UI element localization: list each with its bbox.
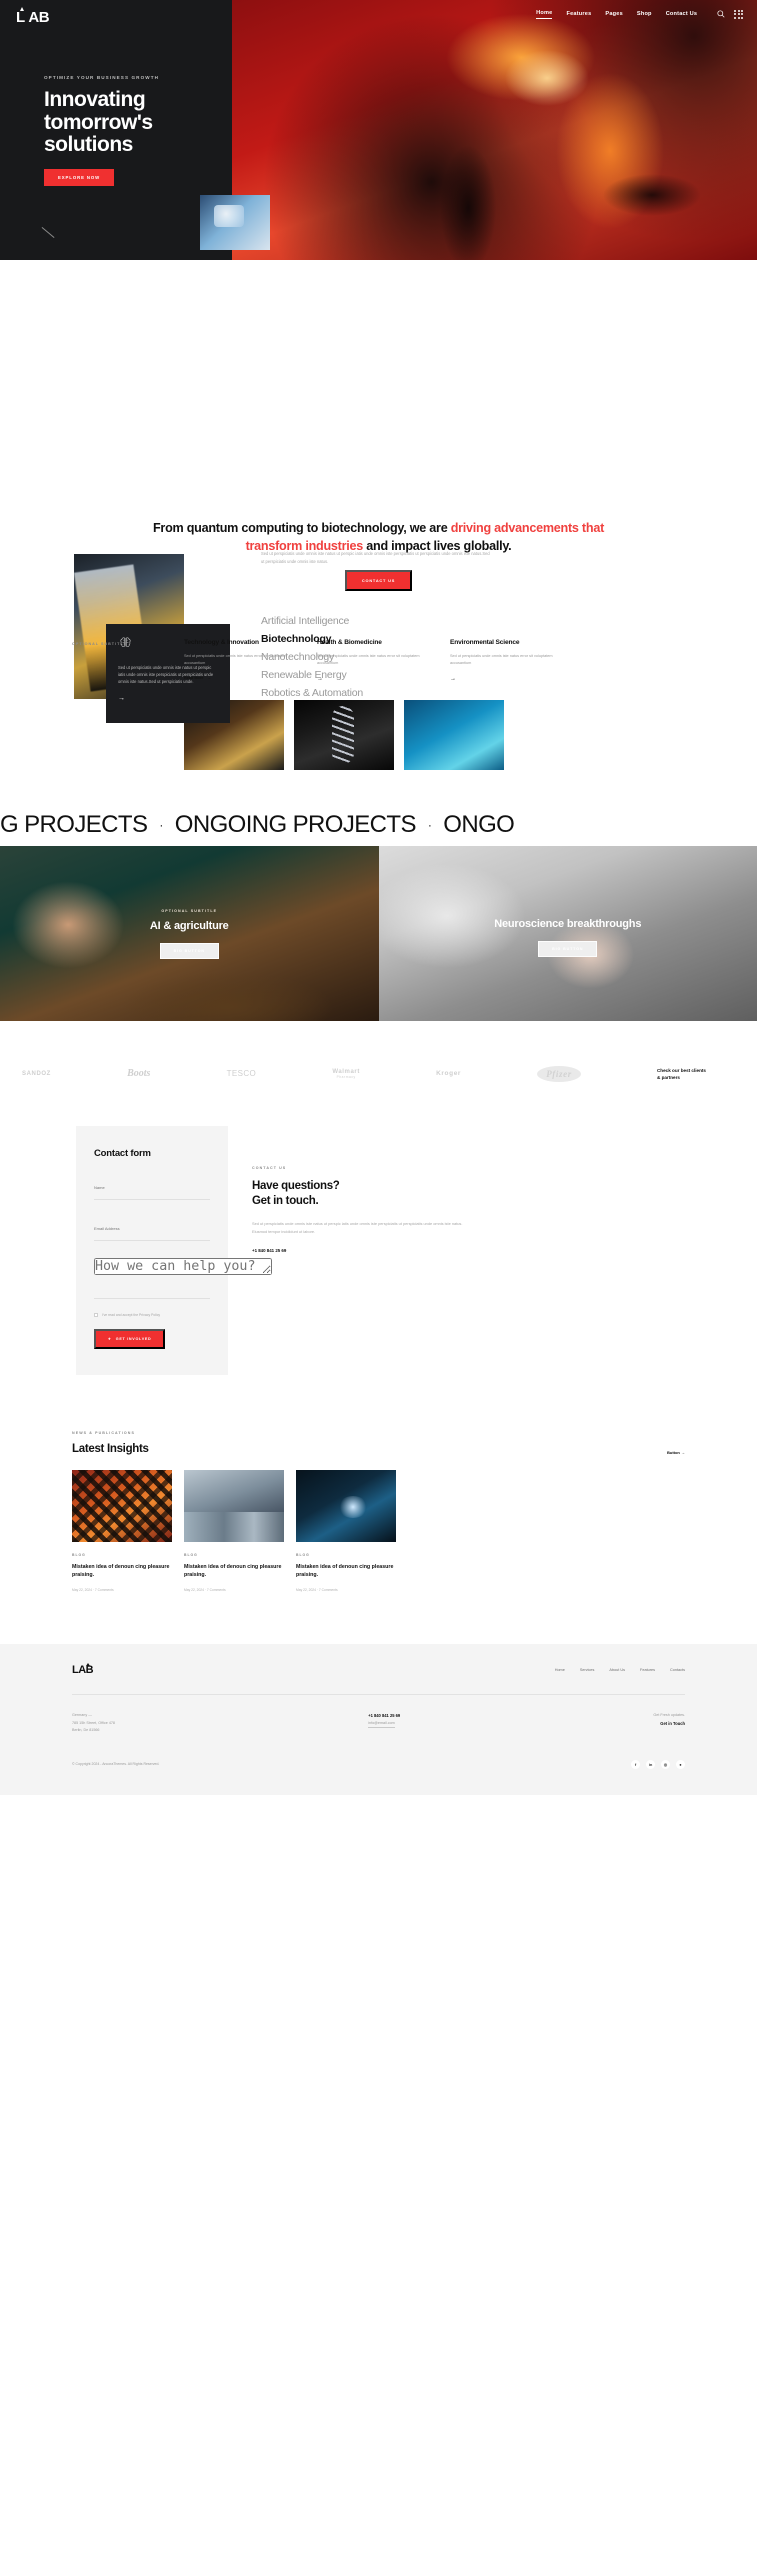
email-input[interactable] [94,1226,210,1231]
feature-text: Sed ut perspiciatis unde omnis iste natu… [184,653,289,667]
project-subtitle: OPTIONAL SUBTITLE [150,909,229,913]
site-footer: LAB Home Services About Us Features Cont… [0,1644,757,1795]
projects-section: OPTIONAL SUBTITLE AI & agriculture BIG B… [0,846,757,1021]
project-card-neuroscience[interactable]: Neuroscience breakthroughs BIG BUTTON [379,846,757,1021]
topic-item-artificial-intelligence[interactable]: Artificial Intelligence [261,612,491,630]
feature-column-environmental[interactable]: Environmental Science Sed ut perspiciati… [450,639,555,683]
footer-updates: Get Fresh updates. Get in Touch [653,1712,685,1734]
client-logo-pfizer: Pfizer [537,1066,581,1082]
privacy-checkbox[interactable] [94,1313,98,1317]
feature-image-dna [294,700,394,770]
blog-meta: May 22, 2024 · 7 Comments [184,1588,284,1592]
contact-form[interactable]: Contact form I've read and accept the Pr… [76,1126,228,1375]
hero-eyebrow: OPTIMIZE YOUR BUSINESS GROWTH [44,75,159,80]
blog-title: Latest Insights [72,1443,149,1455]
clients-section: SANDOZ Boots TESCO WalmartPharmacy Kroge… [0,1021,757,1126]
feature-column-health[interactable]: Health & Biomedicine Sed ut perspiciatis… [317,639,422,683]
blog-card[interactable]: BLOG Mistaken idea of denoun cing pleasu… [296,1470,396,1592]
features-subtitle: OPTIONAL SUBTITLE [72,639,184,683]
blog-image [72,1470,172,1542]
blog-post-title[interactable]: Mistaken idea of denoun cing pleasure pr… [184,1564,284,1580]
blog-card[interactable]: BLOG Mistaken idea of denoun cing pleasu… [184,1470,284,1592]
feature-read-more-link[interactable]: Read More→ [184,676,289,680]
send-icon: ✈ [108,1337,112,1341]
blog-post-title[interactable]: Mistaken idea of denoun cing pleasure pr… [72,1564,172,1580]
privacy-label: I've read and accept the Privacy Policy [102,1313,160,1317]
client-logo-kroger: Kroger [436,1070,461,1077]
blog-category: BLOG [72,1553,172,1557]
linkedin-icon[interactable]: in [646,1760,655,1769]
landing-page: L.AB Home Features Pages Shop Contact Us… [0,0,757,1795]
marquee-separator: · [147,818,174,832]
feature-text: Sed ut perspiciatis unde omnis iste natu… [450,653,555,667]
contact-form-title: Contact form [94,1148,210,1159]
marquee-text-trail: ONGO [443,811,514,839]
client-logo-tesco: TESCO [227,1069,257,1078]
hero-section: L.AB Home Features Pages Shop Contact Us… [0,0,757,260]
feature-title: Environmental Science [450,639,555,646]
marquee-separator: · [416,818,443,832]
footer-get-in-touch-link[interactable]: Get in Touch [653,1720,685,1728]
ongoing-projects-marquee: G PROJECTS · ONGOING PROJECTS · ONGO [0,804,757,846]
footer-email[interactable]: info@email.com [368,1720,395,1728]
blog-button[interactable]: Button → [667,1450,685,1455]
footer-social-links[interactable]: f in ◎ ● [631,1760,685,1769]
client-logo-sandoz: SANDOZ [22,1071,51,1077]
contact-text: Sed ut perspiciatis unde omnis iste natu… [252,1220,472,1234]
blog-section: NEWS & PUBLICATIONS Latest Insights Butt… [0,1431,757,1592]
nav-item-home[interactable]: Home [536,10,552,19]
marquee-text-partial: G PROJECTS [0,811,147,839]
clients-note: Check our best clients& partners [657,1067,735,1081]
nav-item-pages[interactable]: Pages [605,11,622,17]
name-input[interactable] [94,1185,210,1190]
project-card-ai-agriculture[interactable]: OPTIONAL SUBTITLE AI & agriculture BIG B… [0,846,379,1021]
nav-item-shop[interactable]: Shop [637,11,652,17]
hero-copy: OPTIMIZE YOUR BUSINESS GROWTH Innovating… [44,75,159,186]
hero-thumbnail-image[interactable] [200,195,270,250]
contact-info: CONTACT US Have questions?Get in touch. … [252,1126,472,1375]
grid-menu-icon[interactable] [734,10,743,19]
client-logo-boots: Boots [127,1068,150,1079]
footer-nav-about-us[interactable]: About Us [609,1668,625,1672]
privacy-checkbox-row[interactable]: I've read and accept the Privacy Policy [94,1313,210,1317]
footer-contact: +1 840 841 25 69 info@email.com [368,1712,400,1734]
get-involved-button[interactable]: ✈ GET INVOLVED [94,1329,165,1349]
arrow-right-icon[interactable]: → [317,676,422,682]
footer-phone[interactable]: +1 840 841 25 69 [368,1712,400,1720]
project-button[interactable]: BIG BUTTON [160,943,219,959]
feature-column-technology[interactable]: Technology & Innovation Sed ut perspicia… [184,639,289,683]
project-title: AI & agriculture [150,920,229,932]
footer-copyright: © Copyright 2024 - AncoraThemes. All Rig… [72,1762,159,1766]
blog-image [184,1470,284,1542]
project-button[interactable]: BIG BUTTON [538,941,597,957]
nav-item-features[interactable]: Features [566,11,591,17]
footer-nav-home[interactable]: Home [555,1668,565,1672]
feature-image-underwater [404,700,504,770]
search-icon[interactable] [717,10,725,18]
blog-eyebrow: NEWS & PUBLICATIONS [72,1431,149,1435]
marquee-text-full: ONGOING PROJECTS [175,811,416,839]
contact-heading: Have questions?Get in touch. [252,1179,472,1209]
dribbble-icon[interactable]: ● [676,1760,685,1769]
blog-category: BLOG [296,1553,396,1557]
instagram-icon[interactable]: ◎ [661,1760,670,1769]
footer-navigation[interactable]: Home Services About Us Features Contacts [555,1668,685,1672]
blog-category: BLOG [184,1553,284,1557]
feature-title: Health & Biomedicine [317,639,422,646]
topics-lead-text: Sed ut perspiciatis unde omnis iste natu… [261,550,491,565]
nav-item-contact-us[interactable]: Contact Us [666,11,698,17]
footer-address: Germany — 785 15h Street, Office 478 Ber… [72,1712,115,1734]
hero-background-image [232,0,757,260]
contact-section: Contact form I've read and accept the Pr… [0,1126,757,1375]
footer-logo[interactable]: LAB [72,1664,93,1676]
topics-section: Sed ut perspiciatis unde omnis iste natu… [0,260,757,465]
arrow-right-icon: → [681,1450,685,1455]
topic-card-arrow-icon[interactable]: → [118,695,218,702]
facebook-icon[interactable]: f [631,1760,640,1769]
arrow-right-icon[interactable]: → [450,676,555,682]
hero-cta-button[interactable]: EXPLORE NOW [44,169,114,186]
blog-meta: May 22, 2024 · 7 Comments [296,1588,396,1592]
hero-title: Innovating tomorrow's solutions [44,89,159,157]
feature-title: Technology & Innovation [184,639,289,646]
blog-card[interactable]: BLOG Mistaken idea of denoun cing pleasu… [72,1470,172,1592]
contact-phone[interactable]: +1 840 841 25 69 [252,1248,472,1253]
main-navigation[interactable]: Home Features Pages Shop Contact Us [536,10,743,19]
footer-nav-features[interactable]: Features [640,1668,655,1672]
blog-post-title[interactable]: Mistaken idea of denoun cing pleasure pr… [296,1564,396,1580]
project-title: Neuroscience breakthroughs [494,918,641,930]
message-input[interactable] [94,1258,272,1275]
blog-meta: May 22, 2024 · 7 Comments [72,1588,172,1592]
footer-nav-contacts[interactable]: Contacts [670,1668,685,1672]
blog-image [296,1470,396,1542]
contact-eyebrow: CONTACT US [252,1166,472,1170]
client-logo-walmart: WalmartPharmacy [332,1069,360,1079]
footer-nav-services[interactable]: Services [580,1668,595,1672]
site-logo[interactable]: L.AB [16,9,49,26]
arrow-right-icon: → [207,676,211,680]
feature-text: Sed ut perspiciatis unde omnis iste natu… [317,653,422,667]
scroll-indicator [41,227,54,238]
